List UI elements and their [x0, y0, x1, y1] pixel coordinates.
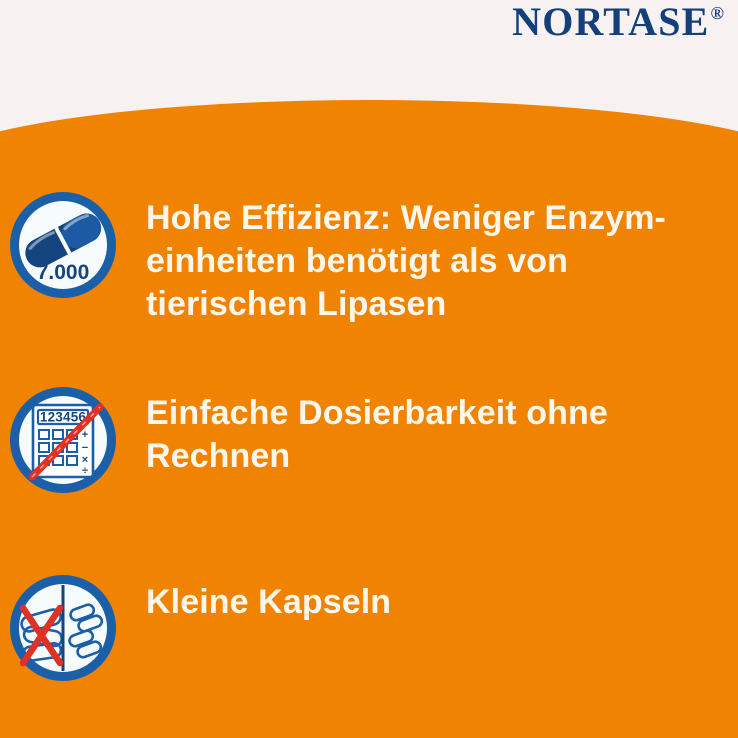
- no-calculator-icon: 123456 +: [8, 385, 118, 495]
- feature-item-einfache-dosierbarkeit: 123456 +: [8, 385, 730, 495]
- feature-item-hohe-effizienz: 7.000 7.000 Hohe Effizienz: Weniger Enzy…: [8, 190, 730, 325]
- feature-list: 7.000 7.000 Hohe Effizienz: Weniger Enzy…: [0, 0, 738, 738]
- small-capsules-comparison-icon: [8, 573, 118, 683]
- svg-text:÷: ÷: [82, 465, 88, 477]
- brand-logo: NORTASE ®: [512, 2, 724, 42]
- calculator-display-label: 123456: [40, 410, 87, 425]
- pill-dose-label: 7.000: [37, 261, 90, 284]
- svg-text:−: −: [82, 442, 88, 454]
- brand-name: NORTASE: [512, 2, 709, 42]
- feature-item-kleine-kapseln: Kleine Kapseln: [8, 573, 730, 683]
- feature-text-kleine-kapseln: Kleine Kapseln: [146, 573, 730, 624]
- registered-trademark-icon: ®: [711, 4, 724, 22]
- poster-canvas: NORTASE ® 7.000 7.0: [0, 0, 738, 738]
- pill-capsule-7000-icon: 7.000 7.000: [8, 190, 118, 300]
- feature-text-hohe-effizienz: Hohe Effizienz: Weniger Enzym- einheiten…: [146, 190, 730, 325]
- feature-text-einfache-dosierbarkeit: Einfache Dosierbarkeit ohne Rechnen: [146, 385, 730, 478]
- svg-text:+: +: [82, 429, 88, 441]
